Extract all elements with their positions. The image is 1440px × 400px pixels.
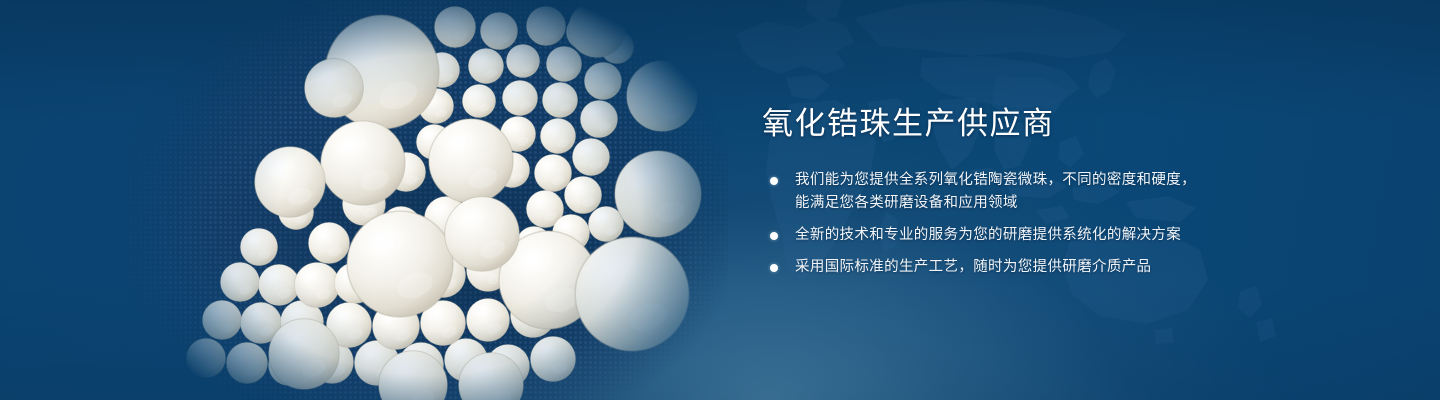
list-item: 我们能为您提供全系列氧化锆陶瓷微珠，不同的密度和硬度， 能满足您各类研磨设备和应… xyxy=(762,169,1382,215)
bullet-dot-icon xyxy=(770,232,778,240)
ceramic-beads-photo xyxy=(128,0,728,400)
bullet-dot-icon xyxy=(770,264,778,272)
hero-banner: 氧化锆珠生产供应商 我们能为您提供全系列氧化锆陶瓷微珠，不同的密度和硬度， 能满… xyxy=(0,0,1440,400)
bead-cluster-illustration xyxy=(128,0,728,400)
bullet-text: 全新的技术和专业的服务为您的研磨提供系统化的解决方案 xyxy=(795,224,1382,247)
bullet-dot-icon xyxy=(770,177,778,185)
banner-headline: 氧化锆珠生产供应商 xyxy=(762,104,1382,144)
bullet-text: 采用国际标准的生产工艺，随时为您提供研磨介质产品 xyxy=(795,256,1382,279)
feature-bullet-list: 我们能为您提供全系列氧化锆陶瓷微珠，不同的密度和硬度， 能满足您各类研磨设备和应… xyxy=(762,169,1382,279)
list-item: 采用国际标准的生产工艺，随时为您提供研磨介质产品 xyxy=(762,256,1382,279)
list-item: 全新的技术和专业的服务为您的研磨提供系统化的解决方案 xyxy=(762,224,1382,247)
banner-content: 氧化锆珠生产供应商 我们能为您提供全系列氧化锆陶瓷微珠，不同的密度和硬度， 能满… xyxy=(762,104,1382,279)
bullet-text: 能满足您各类研磨设备和应用领域 xyxy=(795,192,1382,215)
bullet-text: 我们能为您提供全系列氧化锆陶瓷微珠，不同的密度和硬度， xyxy=(795,169,1382,192)
